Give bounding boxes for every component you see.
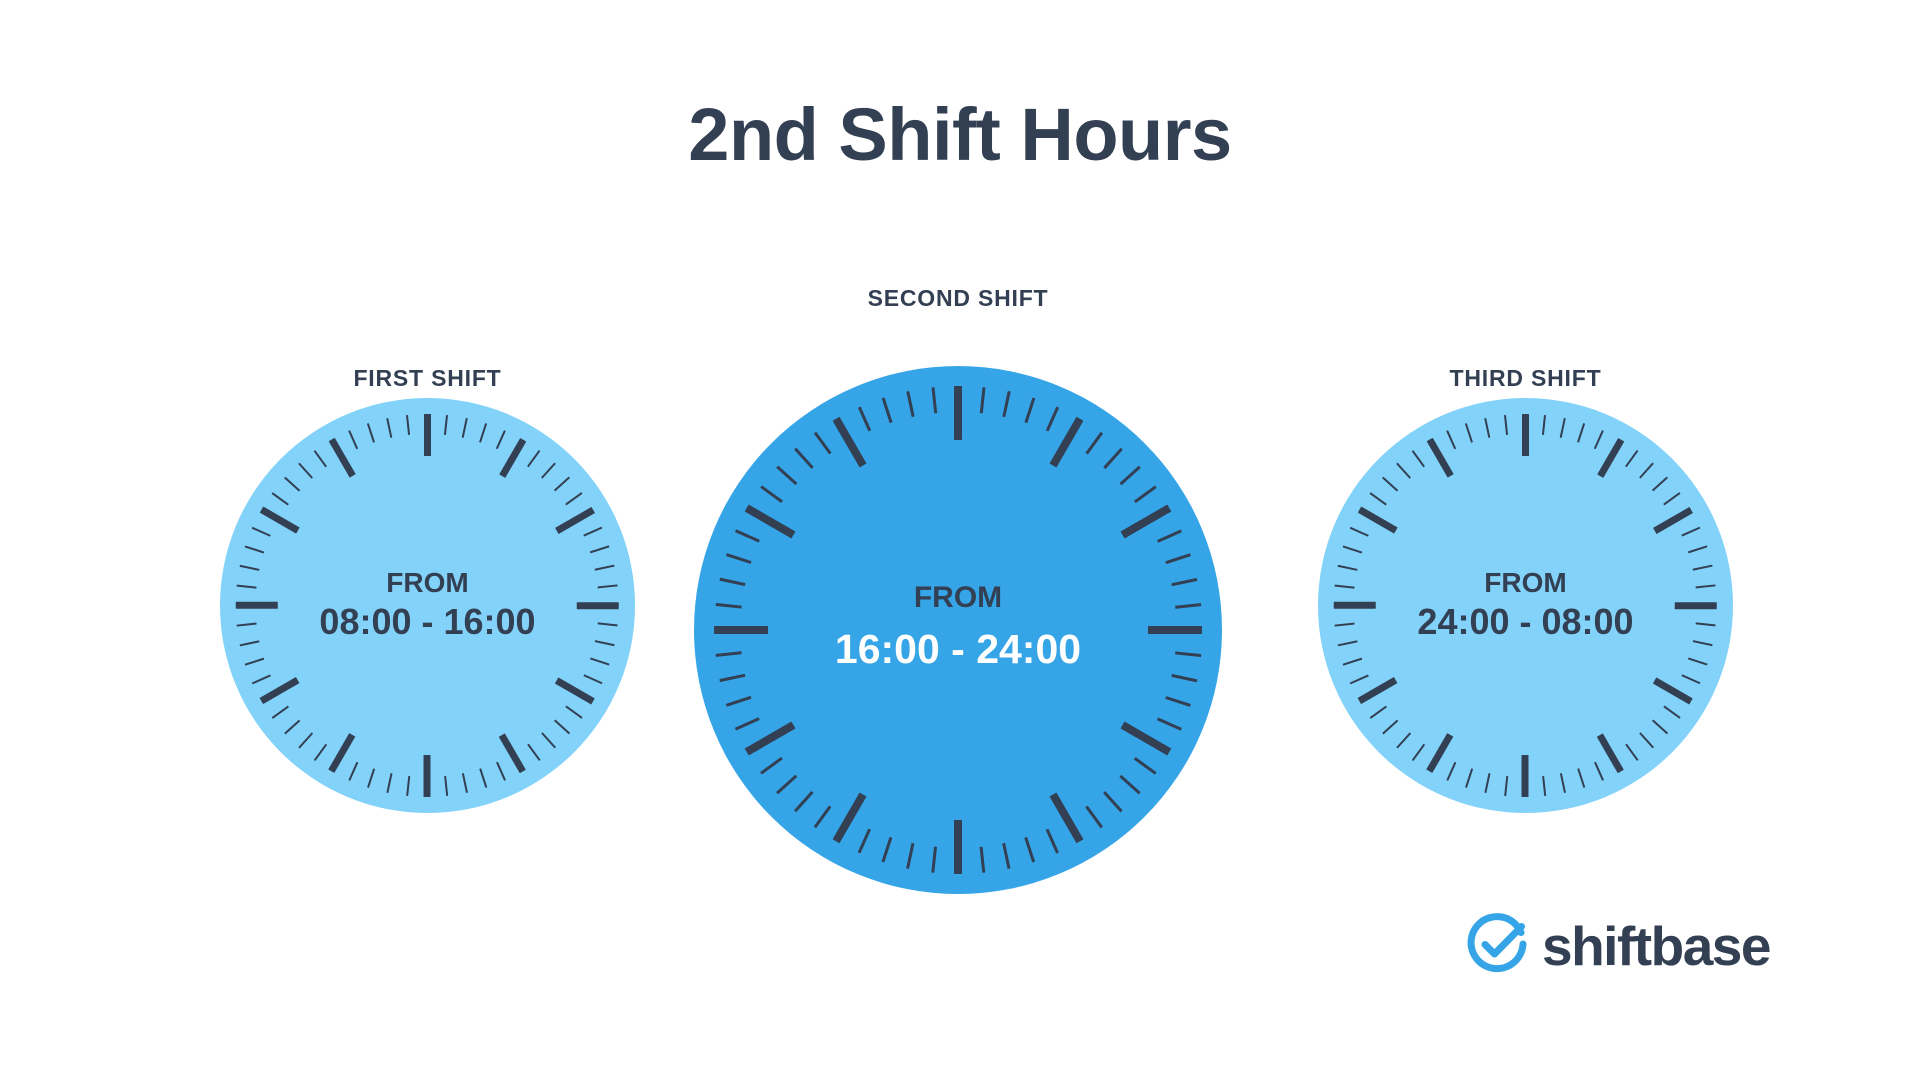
clock-tick-minute xyxy=(1682,674,1701,684)
clock-tick-minute xyxy=(349,430,359,449)
clock-tick-minute xyxy=(760,757,783,775)
clock-tick-minute xyxy=(252,674,271,684)
clock-tick-hour xyxy=(1597,438,1624,478)
clock-tick-minute xyxy=(1045,407,1058,432)
clock-tick-hour xyxy=(1597,733,1624,773)
clock-face-first-shift: FROM 08:00 - 16:00 xyxy=(220,398,635,813)
clock-tick-minute xyxy=(1504,776,1508,796)
clock-tick-hour xyxy=(1427,438,1454,478)
clock-tick-minute xyxy=(1024,837,1035,863)
clock-face-third-shift: FROM 24:00 - 08:00 xyxy=(1318,398,1733,813)
clock-tick-minute xyxy=(813,806,831,829)
clock-tick-minute xyxy=(906,843,914,869)
clock-label-third-shift: THIRD SHIFT xyxy=(1318,365,1733,392)
clock-tick-minute xyxy=(496,762,506,781)
clock-card-first-shift: FIRST SHIFT FROM 08:00 - 16:00 xyxy=(220,365,635,815)
clock-tick-minute xyxy=(1594,762,1604,781)
clock-tick-minute xyxy=(462,773,468,793)
clock-tick-minute xyxy=(527,744,541,761)
clock-tick-minute xyxy=(554,719,570,734)
clock-tick-hour xyxy=(1675,602,1717,609)
clock-tick-hour xyxy=(1050,417,1084,468)
clock-tick-minute xyxy=(1397,732,1412,748)
clock-tick-minute xyxy=(1165,553,1191,564)
clock-tick-hour xyxy=(329,733,356,773)
clock-time-range-third-shift: 24:00 - 08:00 xyxy=(1318,601,1733,643)
clock-tick-hour xyxy=(236,602,278,609)
clock-tick-minute xyxy=(906,391,914,417)
clock-tick-minute xyxy=(1085,432,1103,455)
clock-tick-hour xyxy=(555,507,595,534)
clock-tick-minute xyxy=(1103,448,1122,469)
clock-tick-hour xyxy=(833,417,867,468)
clock-tick-hour xyxy=(1653,677,1693,704)
clock-tick-minute xyxy=(979,847,984,873)
clock-tick-hour xyxy=(954,386,962,440)
clock-tick-minute xyxy=(496,430,506,449)
clock-tick-minute xyxy=(1382,477,1398,492)
clock-tick-minute xyxy=(479,768,487,788)
clock-tick-hour xyxy=(954,820,962,874)
clock-tick-minute xyxy=(1350,527,1369,537)
clock-tick-minute xyxy=(367,768,375,788)
clock-tick-minute xyxy=(735,717,760,730)
clock-tick-minute xyxy=(1485,418,1491,438)
clock-tick-minute xyxy=(726,553,752,564)
clock-tick-minute xyxy=(479,423,487,443)
clock-tick-hour xyxy=(833,793,867,844)
clock-tick-minute xyxy=(541,462,556,478)
clock-tick-minute xyxy=(1542,415,1546,435)
clock-tick-minute xyxy=(760,485,783,503)
clock-tick-hour xyxy=(1653,507,1693,534)
clock-tick-minute xyxy=(1045,829,1058,854)
clock-tick-minute xyxy=(1594,430,1604,449)
clock-tick-minute xyxy=(1652,719,1668,734)
clock-tick-minute xyxy=(1024,398,1035,424)
clock-tick-minute xyxy=(1465,768,1473,788)
clock-tick-minute xyxy=(584,674,603,684)
clock-tick-hour xyxy=(424,414,431,456)
clock-tick-minute xyxy=(1157,529,1182,542)
clock-tick-minute xyxy=(726,696,752,707)
clock-tick-hour xyxy=(260,677,300,704)
clock-tick-minute xyxy=(1119,466,1140,485)
clock-tick-hour xyxy=(1121,722,1172,756)
clock-tick-minute xyxy=(566,705,583,719)
clock-tick-minute xyxy=(1165,696,1191,707)
clock-tick-minute xyxy=(1447,430,1457,449)
clock-tick-hour xyxy=(714,626,768,634)
clock-tick-minute xyxy=(349,762,359,781)
clock-tick-minute xyxy=(1002,843,1010,869)
clock-tick-minute xyxy=(1688,545,1708,553)
clock-tick-minute xyxy=(1412,744,1426,761)
clock-tick-minute xyxy=(554,477,570,492)
clock-tick-hour xyxy=(1358,677,1398,704)
clock-label-second-shift: SECOND SHIFT xyxy=(694,285,1222,312)
clock-tick-minute xyxy=(1542,776,1546,796)
page-title: 2nd Shift Hours xyxy=(0,98,1920,172)
clock-tick-minute xyxy=(272,705,289,719)
clock-tick-minute xyxy=(387,418,393,438)
clock-tick-hour xyxy=(577,602,619,609)
clock-tick-minute xyxy=(1577,423,1585,443)
clock-tick-hour xyxy=(745,505,796,539)
clock-tick-minute xyxy=(1560,773,1566,793)
clock-tick-minute xyxy=(1560,418,1566,438)
clock-tick-minute xyxy=(1664,492,1681,506)
clock-face-second-shift: FROM 16:00 - 24:00 xyxy=(694,366,1222,894)
check-circle-icon xyxy=(1466,913,1528,980)
clock-tick-minute xyxy=(1119,775,1140,794)
clock-tick-minute xyxy=(881,837,892,863)
clock-tick-minute xyxy=(284,477,300,492)
clock-tick-minute xyxy=(1370,705,1387,719)
clock-tick-minute xyxy=(776,466,797,485)
clock-tick-hour xyxy=(745,722,796,756)
clock-tick-minute xyxy=(444,776,448,796)
clock-from-label-third-shift: FROM xyxy=(1318,566,1733,599)
clock-tick-minute xyxy=(1465,423,1473,443)
clock-tick-minute xyxy=(1485,773,1491,793)
clock-tick-minute xyxy=(590,657,610,665)
clock-tick-minute xyxy=(931,847,936,873)
clock-tick-minute xyxy=(272,492,289,506)
clock-tick-minute xyxy=(1412,450,1426,467)
clock-tick-minute xyxy=(367,423,375,443)
clock-tick-minute xyxy=(1085,806,1103,829)
shiftbase-wordmark: shiftbase xyxy=(1542,919,1770,974)
clock-tick-minute xyxy=(979,387,984,413)
clock-tick-hour xyxy=(1522,755,1529,797)
clock-card-third-shift: THIRD SHIFT FROM 24:00 - 08:00 xyxy=(1318,365,1733,815)
clock-tick-minute xyxy=(776,775,797,794)
clock-tick-minute xyxy=(794,448,813,469)
clock-tick-hour xyxy=(1334,602,1376,609)
clock-tick-minute xyxy=(444,415,448,435)
clock-tick-minute xyxy=(1639,732,1654,748)
clock-tick-minute xyxy=(1134,757,1157,775)
clock-tick-minute xyxy=(1639,462,1654,478)
clock-card-second-shift: SECOND SHIFT FROM 16:00 - 24:00 xyxy=(694,285,1222,900)
shiftbase-logo: shiftbase xyxy=(1466,908,1806,984)
clock-time-range-first-shift: 08:00 - 16:00 xyxy=(220,601,635,643)
clock-tick-minute xyxy=(1343,657,1363,665)
clock-tick-hour xyxy=(499,438,526,478)
clock-tick-minute xyxy=(794,791,813,812)
clock-tick-minute xyxy=(719,674,745,682)
clock-tick-hour xyxy=(1358,507,1398,534)
clock-tick-hour xyxy=(329,438,356,478)
clock-tick-minute xyxy=(314,744,328,761)
clock-tick-minute xyxy=(1577,768,1585,788)
clock-label-first-shift: FIRST SHIFT xyxy=(220,365,635,392)
clock-tick-minute xyxy=(590,545,610,553)
clock-from-label-second-shift: FROM xyxy=(694,580,1222,615)
clock-tick-minute xyxy=(735,529,760,542)
clock-tick-minute xyxy=(857,407,870,432)
clock-tick-hour xyxy=(1427,733,1454,773)
clock-tick-minute xyxy=(1343,545,1363,553)
clock-tick-minute xyxy=(813,432,831,455)
clock-tick-minute xyxy=(1625,744,1639,761)
clock-time-range-second-shift: 16:00 - 24:00 xyxy=(694,625,1222,673)
clock-tick-minute xyxy=(299,732,314,748)
clock-tick-hour xyxy=(499,733,526,773)
clock-tick-minute xyxy=(1134,485,1157,503)
clock-tick-minute xyxy=(1652,477,1668,492)
clock-tick-minute xyxy=(881,398,892,424)
clock-tick-minute xyxy=(566,492,583,506)
clock-tick-hour xyxy=(555,677,595,704)
clock-tick-minute xyxy=(1397,462,1412,478)
clock-tick-minute xyxy=(1002,391,1010,417)
clock-tick-hour xyxy=(1148,626,1202,634)
clock-from-label-first-shift: FROM xyxy=(220,566,635,599)
clock-tick-minute xyxy=(1447,762,1457,781)
clock-tick-minute xyxy=(541,732,556,748)
clock-tick-minute xyxy=(1370,492,1387,506)
clock-tick-minute xyxy=(1350,674,1369,684)
clock-tick-minute xyxy=(299,462,314,478)
clock-tick-minute xyxy=(527,450,541,467)
clock-tick-minute xyxy=(1625,450,1639,467)
clock-tick-minute xyxy=(245,657,265,665)
clock-tick-minute xyxy=(857,829,870,854)
clock-tick-hour xyxy=(260,507,300,534)
clock-tick-hour xyxy=(1050,793,1084,844)
clock-tick-minute xyxy=(1103,791,1122,812)
clock-tick-hour xyxy=(424,755,431,797)
clock-tick-minute xyxy=(245,545,265,553)
clock-tick-minute xyxy=(462,418,468,438)
clock-tick-minute xyxy=(1664,705,1681,719)
clock-tick-minute xyxy=(284,719,300,734)
clock-tick-minute xyxy=(314,450,328,467)
clock-tick-minute xyxy=(1382,719,1398,734)
clock-tick-minute xyxy=(931,387,936,413)
clock-tick-minute xyxy=(387,773,393,793)
clock-tick-minute xyxy=(252,527,271,537)
clock-tick-hour xyxy=(1522,414,1529,456)
clock-tick-minute xyxy=(406,776,410,796)
clock-tick-minute xyxy=(1682,527,1701,537)
clock-tick-minute xyxy=(584,527,603,537)
clock-tick-minute xyxy=(1504,415,1508,435)
clock-tick-minute xyxy=(1688,657,1708,665)
clock-tick-minute xyxy=(1157,717,1182,730)
clock-tick-minute xyxy=(406,415,410,435)
clock-tick-minute xyxy=(1171,674,1197,682)
clock-tick-hour xyxy=(1121,505,1172,539)
